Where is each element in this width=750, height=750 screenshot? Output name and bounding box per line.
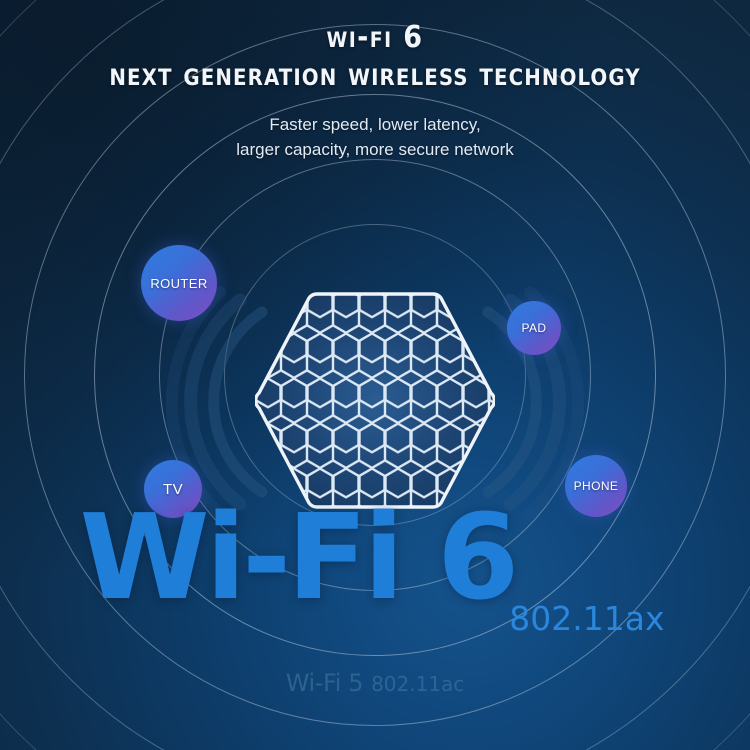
- device-badge-pad[interactable]: PAD: [507, 301, 561, 355]
- device-badge-router-label: ROUTER: [150, 276, 207, 291]
- wordmark-standard: 802.11ax: [509, 599, 664, 638]
- banner-subtitle: Faster speed, lower latency, larger capa…: [0, 112, 750, 162]
- device-badge-phone-label: PHONE: [574, 479, 619, 493]
- legacy-standard: 802.11ac: [371, 672, 464, 696]
- device-badge-router[interactable]: ROUTER: [141, 245, 217, 321]
- heading-line-2: Next generation wireless technology: [0, 59, 750, 92]
- device-badge-pad-label: PAD: [522, 321, 547, 335]
- wifi6-wordmark: Wi-Fi 6802.11ax: [0, 498, 750, 616]
- legacy-primary: Wi-Fi 5: [286, 669, 363, 697]
- wifi5-legacy-label: Wi-Fi 5802.11ac: [0, 669, 750, 697]
- wordmark-primary: Wi-Fi 6: [79, 488, 515, 626]
- banner-heading: Wi-Fi 6 Next generation wireless technol…: [0, 0, 750, 91]
- subtitle-line-2: larger capacity, more secure network: [0, 137, 750, 162]
- honeycomb-hexagon: [255, 288, 495, 513]
- subtitle-line-1: Faster speed, lower latency,: [0, 112, 750, 137]
- heading-line-1: Wi-Fi 6: [0, 22, 750, 54]
- wifi6-promo-banner: Wi-Fi 6 Next generation wireless technol…: [0, 0, 750, 750]
